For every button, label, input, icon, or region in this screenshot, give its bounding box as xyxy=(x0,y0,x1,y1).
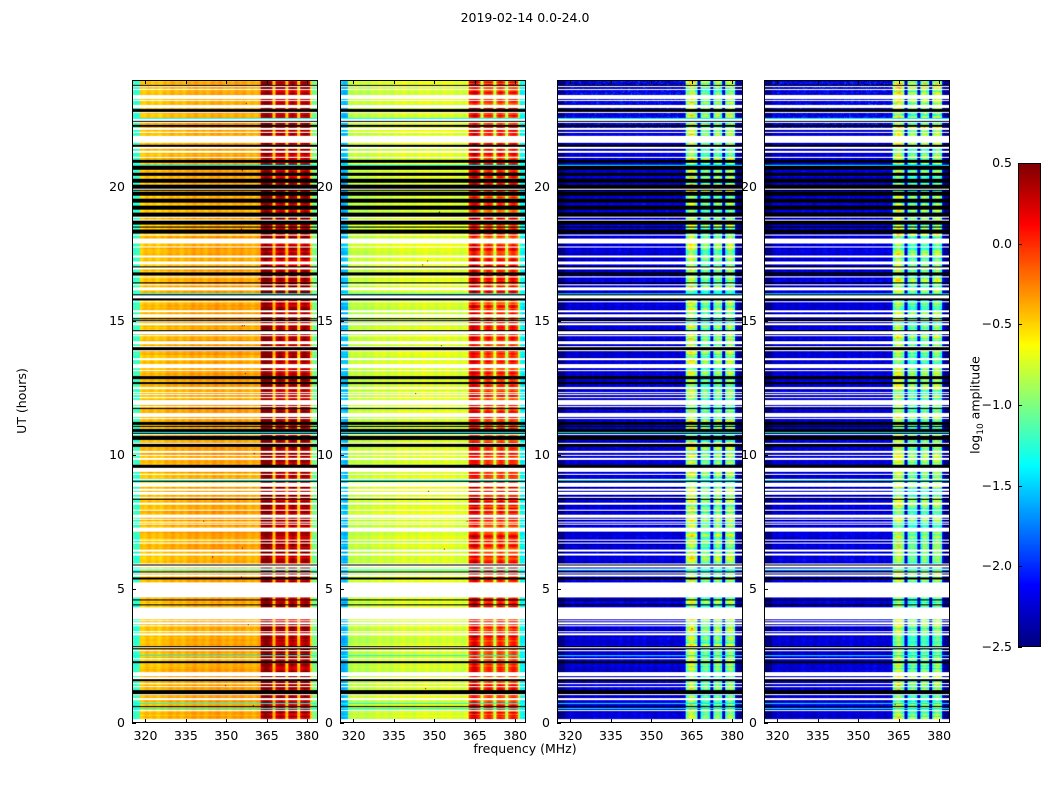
y-tick-label: 20 xyxy=(727,180,757,194)
x-tick-mark-top xyxy=(515,80,516,84)
y-tick-mark xyxy=(340,723,344,724)
y-tick-mark xyxy=(764,187,768,188)
x-tick-label: 380 xyxy=(927,729,951,743)
y-tick-label: 5 xyxy=(303,582,333,596)
x-tick-label: 350 xyxy=(422,729,446,743)
colorbar-gradient xyxy=(1019,164,1040,646)
colorbar-tick-label: 0.0 xyxy=(976,237,1012,251)
x-tick-label: 320 xyxy=(766,729,790,743)
y-tick-mark xyxy=(340,187,344,188)
x-tick-mark-top xyxy=(939,80,940,84)
x-tick-label: 380 xyxy=(295,729,319,743)
panel-xy[interactable]: XY, V15=EA26 xyxy=(557,80,743,723)
y-tick-label: 10 xyxy=(727,448,757,462)
x-tick-mark xyxy=(939,719,940,723)
y-tick-mark xyxy=(132,723,136,724)
colorbar-tick-label: −0.5 xyxy=(976,317,1012,331)
y-tick-label: 20 xyxy=(95,180,125,194)
x-tick-mark xyxy=(145,719,146,723)
x-tick-mark xyxy=(777,719,778,723)
x-tick-mark xyxy=(692,719,693,723)
x-tick-label: 335 xyxy=(382,729,406,743)
x-tick-mark-top xyxy=(732,80,733,84)
heatmap-yy xyxy=(341,81,525,722)
x-tick-mark-top xyxy=(475,80,476,84)
y-tick-label: 10 xyxy=(303,448,333,462)
y-tick-mark xyxy=(340,455,344,456)
x-tick-mark-top xyxy=(818,80,819,84)
y-tick-label: 0 xyxy=(520,716,550,730)
x-tick-mark-top xyxy=(353,80,354,84)
colorbar-tick-mark xyxy=(1018,566,1022,567)
panel-xx[interactable]: XX, V15=EA26 xyxy=(132,80,318,723)
y-tick-mark xyxy=(340,589,344,590)
y-tick-mark xyxy=(132,321,136,322)
x-axis-label: frequency (MHz) xyxy=(0,742,1050,756)
y-tick-mark xyxy=(340,321,344,322)
x-tick-mark-top xyxy=(777,80,778,84)
x-tick-mark-top xyxy=(899,80,900,84)
figure-suptitle: 2019-02-14 0.0-24.0 xyxy=(0,11,1050,25)
y-tick-label: 5 xyxy=(520,582,550,596)
heatmap-yx xyxy=(765,81,949,722)
panel-yx[interactable]: YX, V15=EA26 xyxy=(764,80,950,723)
x-tick-label: 335 xyxy=(599,729,623,743)
colorbar-tick-label: 0.5 xyxy=(976,156,1012,170)
x-tick-label: 365 xyxy=(887,729,911,743)
y-tick-label: 15 xyxy=(95,314,125,328)
panel-yy[interactable]: YY, V15=EA26 xyxy=(340,80,526,723)
y-tick-mark xyxy=(764,589,768,590)
x-tick-mark xyxy=(515,719,516,723)
y-tick-mark xyxy=(557,455,561,456)
x-tick-label: 350 xyxy=(639,729,663,743)
y-tick-label: 20 xyxy=(303,180,333,194)
y-tick-mark xyxy=(557,321,561,322)
x-tick-mark xyxy=(434,719,435,723)
y-tick-mark xyxy=(764,321,768,322)
y-tick-mark xyxy=(557,187,561,188)
x-tick-label: 335 xyxy=(806,729,830,743)
x-tick-mark xyxy=(353,719,354,723)
y-tick-mark xyxy=(764,455,768,456)
x-tick-mark xyxy=(651,719,652,723)
x-tick-mark-top xyxy=(394,80,395,84)
colorbar-tick-mark xyxy=(1018,647,1022,648)
colorbar-tick-label: −1.5 xyxy=(976,479,1012,493)
x-tick-label: 350 xyxy=(846,729,870,743)
y-tick-mark xyxy=(132,187,136,188)
heatmap-xy xyxy=(558,81,742,722)
y-tick-label: 10 xyxy=(520,448,550,462)
x-tick-mark-top xyxy=(307,80,308,84)
heatmap-xx xyxy=(133,81,317,722)
x-tick-label: 320 xyxy=(134,729,158,743)
y-tick-label: 15 xyxy=(303,314,333,328)
colorbar-tick-mark xyxy=(1018,405,1022,406)
x-tick-mark xyxy=(394,719,395,723)
x-tick-mark xyxy=(267,719,268,723)
colorbar-label: log10 amplitude xyxy=(968,356,988,454)
y-tick-label: 5 xyxy=(727,582,757,596)
x-tick-mark xyxy=(858,719,859,723)
y-tick-mark xyxy=(132,589,136,590)
colorbar-tick-mark xyxy=(1018,244,1022,245)
x-tick-mark-top xyxy=(267,80,268,84)
y-tick-label: 15 xyxy=(727,314,757,328)
y-tick-mark xyxy=(557,723,561,724)
x-tick-mark-top xyxy=(145,80,146,84)
x-tick-mark xyxy=(186,719,187,723)
y-tick-label: 15 xyxy=(520,314,550,328)
x-tick-mark xyxy=(818,719,819,723)
x-tick-mark xyxy=(475,719,476,723)
y-axis-label: UT (hours) xyxy=(15,368,29,434)
colorbar-tick-label: −2.0 xyxy=(976,559,1012,573)
y-tick-label: 0 xyxy=(95,716,125,730)
x-tick-mark xyxy=(570,719,571,723)
colorbar-tick-label: −2.5 xyxy=(976,640,1012,654)
x-tick-mark xyxy=(611,719,612,723)
x-tick-label: 380 xyxy=(720,729,744,743)
y-tick-label: 20 xyxy=(520,180,550,194)
x-tick-mark xyxy=(899,719,900,723)
y-tick-label: 0 xyxy=(727,716,757,730)
colorbar-tick-mark xyxy=(1018,486,1022,487)
x-tick-label: 335 xyxy=(174,729,198,743)
x-tick-label: 350 xyxy=(214,729,238,743)
x-tick-label: 320 xyxy=(342,729,366,743)
colorbar-label-tail: amplitude xyxy=(967,356,982,423)
y-tick-mark xyxy=(764,723,768,724)
x-tick-mark-top xyxy=(434,80,435,84)
y-tick-label: 10 xyxy=(95,448,125,462)
x-tick-label: 365 xyxy=(255,729,279,743)
x-tick-mark-top xyxy=(692,80,693,84)
x-tick-label: 365 xyxy=(680,729,704,743)
colorbar-tick-mark xyxy=(1018,324,1022,325)
colorbar-label-base: log xyxy=(967,435,982,454)
y-tick-label: 0 xyxy=(303,716,333,730)
x-tick-mark-top xyxy=(611,80,612,84)
figure-canvas: 2019-02-14 0.0-24.0 XX, V15=EA26 YY, V15… xyxy=(0,0,1050,800)
y-tick-mark xyxy=(557,589,561,590)
x-tick-mark-top xyxy=(186,80,187,84)
y-tick-label: 5 xyxy=(95,582,125,596)
colorbar-tick-mark xyxy=(1018,163,1022,164)
x-tick-mark-top xyxy=(570,80,571,84)
x-tick-mark-top xyxy=(858,80,859,84)
y-tick-mark xyxy=(132,455,136,456)
x-tick-mark-top xyxy=(226,80,227,84)
colorbar-label-sub: 10 xyxy=(976,423,986,434)
x-tick-mark xyxy=(226,719,227,723)
x-tick-mark-top xyxy=(651,80,652,84)
